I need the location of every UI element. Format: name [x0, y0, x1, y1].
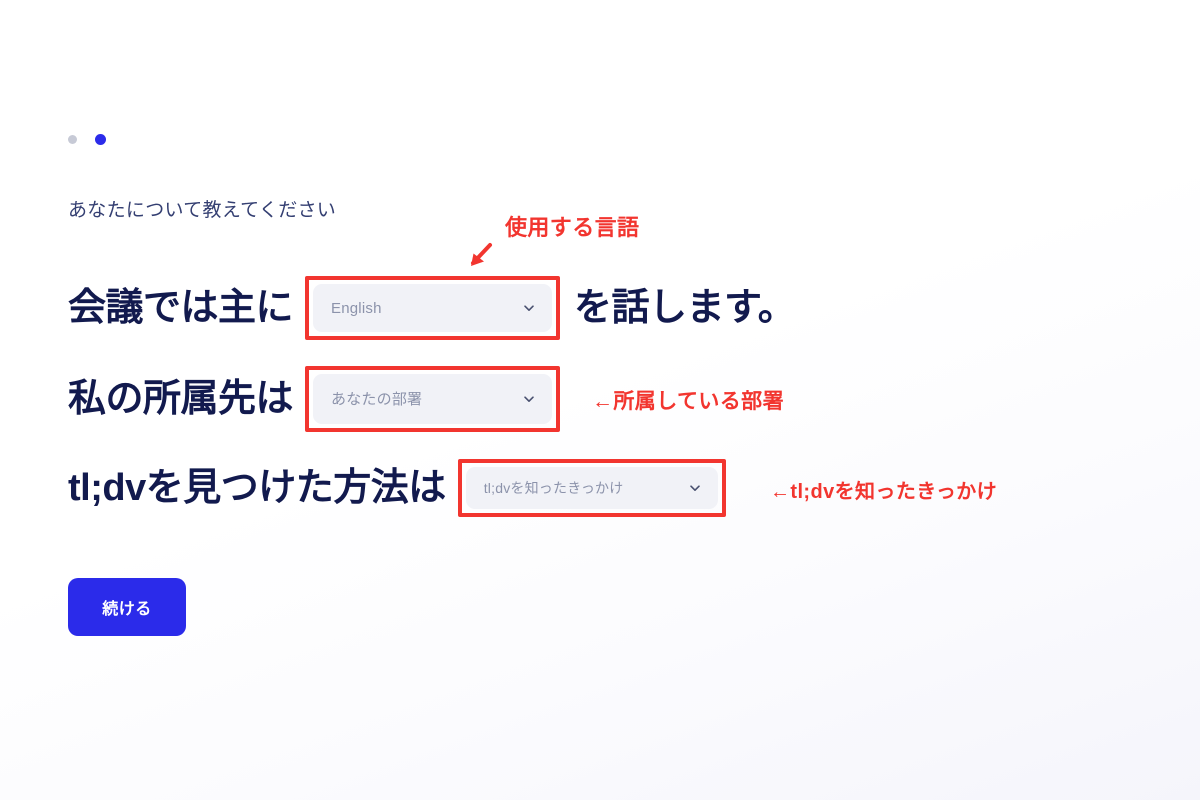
question-label-language-lead: 会議では主に [68, 289, 293, 327]
annotation-outline-department: あなたの部署 [305, 366, 560, 432]
annotation-label-language: 使用する言語 [505, 210, 639, 242]
form-subtitle: あなたについて教えてください [68, 198, 336, 224]
step-indicator [68, 134, 106, 145]
question-row-language: 会議では主に English を話します。 [68, 276, 795, 340]
annotation-outline-source: tl;dvを知ったきっかけ [458, 459, 726, 517]
annotation-label-department: ←所属している部署 [592, 385, 784, 415]
step-dot-1[interactable] [68, 135, 77, 144]
chevron-down-icon [522, 301, 536, 315]
language-select-placeholder: English [331, 301, 382, 316]
chevron-down-icon [688, 481, 702, 495]
question-row-source: tl;dvを見つけた方法は tl;dvを知ったきっかけ [68, 456, 726, 520]
question-label-department-lead: 私の所属先は [68, 380, 293, 418]
arrow-down-left-icon [462, 240, 496, 274]
chevron-down-icon [522, 392, 536, 406]
page-background: あなたについて教えてください 会議では主に English を話します。 私の所… [0, 0, 1200, 800]
question-label-source-lead: tl;dvを見つけた方法は [68, 469, 446, 507]
annotation-outline-language: English [305, 276, 560, 340]
source-select-placeholder: tl;dvを知ったきっかけ [484, 481, 624, 495]
department-select[interactable]: あなたの部署 [313, 374, 552, 424]
question-label-language-tail: を話します。 [574, 289, 795, 327]
language-select[interactable]: English [313, 284, 552, 332]
source-select[interactable]: tl;dvを知ったきっかけ [466, 467, 718, 509]
continue-button[interactable]: 続ける [68, 578, 186, 636]
annotation-label-source: ←tl;dvを知ったきっかけ [770, 475, 997, 504]
department-select-placeholder: あなたの部署 [331, 392, 422, 407]
question-row-department: 私の所属先は あなたの部署 [68, 366, 560, 432]
step-dot-2[interactable] [95, 134, 106, 145]
